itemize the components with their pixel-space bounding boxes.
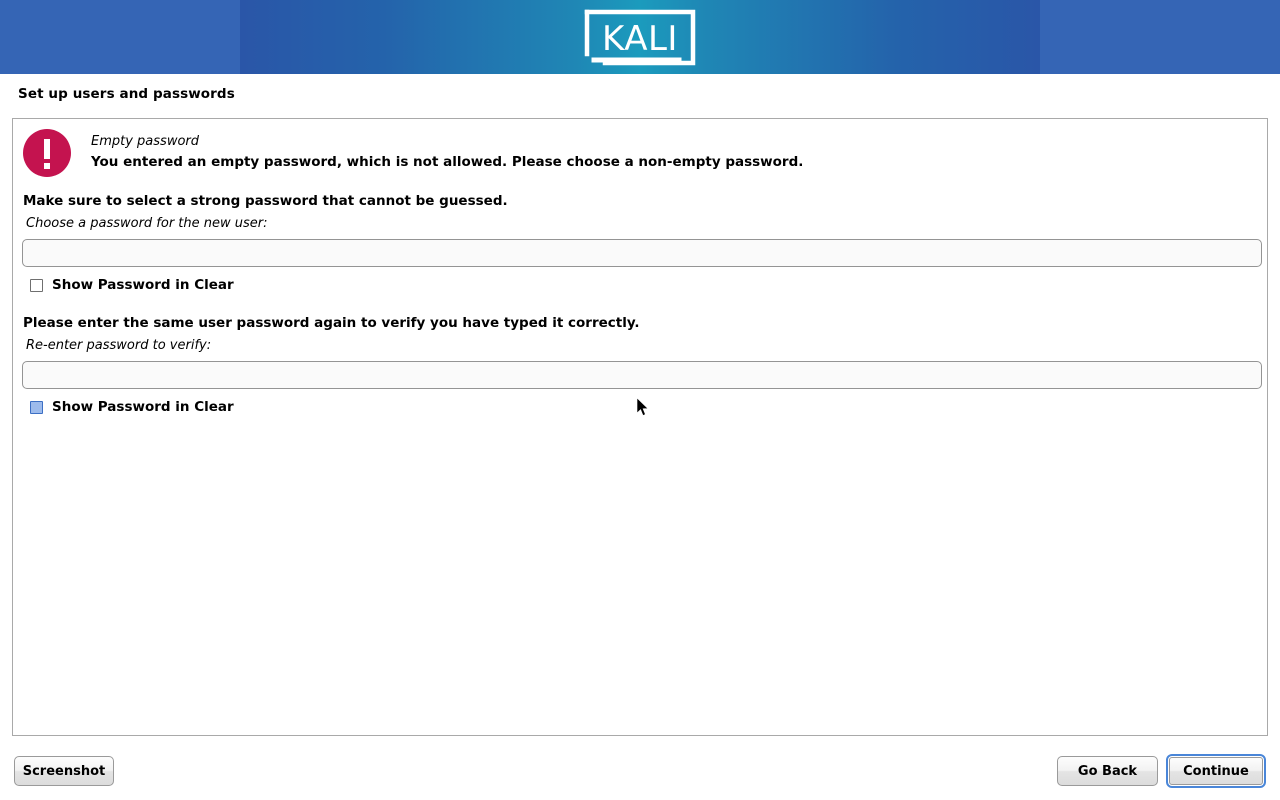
strong-password-hint: Make sure to select a strong password th… bbox=[23, 193, 1269, 210]
verify-field-label: Re-enter password to verify: bbox=[26, 338, 1269, 354]
svg-text:KALI: KALI bbox=[602, 19, 678, 59]
verify-password-hint: Please enter the same user password agai… bbox=[23, 315, 1269, 332]
error-text-group: Empty password You entered an empty pass… bbox=[91, 127, 803, 172]
page-title: Set up users and passwords bbox=[18, 86, 235, 102]
show-password-label-1: Show Password in Clear bbox=[52, 277, 234, 293]
screenshot-button[interactable]: Screenshot bbox=[14, 756, 114, 786]
show-password-checkbox-2[interactable] bbox=[30, 401, 43, 414]
continue-button[interactable]: Continue bbox=[1166, 754, 1266, 788]
show-password-row-1[interactable]: Show Password in Clear bbox=[30, 276, 1269, 294]
password-input[interactable] bbox=[22, 239, 1262, 267]
show-password-checkbox-1[interactable] bbox=[30, 279, 43, 292]
kali-logo-icon: KALI bbox=[583, 8, 697, 67]
error-exclamation-icon bbox=[23, 129, 71, 177]
show-password-row-2[interactable]: Show Password in Clear bbox=[30, 398, 1269, 416]
error-message: You entered an empty password, which is … bbox=[91, 153, 803, 172]
installer-banner: KALI bbox=[0, 0, 1280, 74]
show-password-label-2: Show Password in Clear bbox=[52, 399, 234, 415]
error-title: Empty password bbox=[91, 134, 803, 150]
password-field-label: Choose a password for the new user: bbox=[26, 216, 1269, 232]
go-back-button[interactable]: Go Back bbox=[1057, 756, 1158, 786]
continue-button-label: Continue bbox=[1169, 757, 1263, 785]
main-content-panel: Empty password You entered an empty pass… bbox=[12, 118, 1268, 736]
verify-password-input[interactable] bbox=[22, 361, 1262, 389]
exclamation-dot bbox=[44, 163, 50, 169]
exclamation-bar bbox=[44, 139, 50, 159]
form-spacer bbox=[13, 294, 1269, 315]
error-notice: Empty password You entered an empty pass… bbox=[23, 127, 1253, 177]
password-form: Make sure to select a strong password th… bbox=[13, 193, 1269, 416]
